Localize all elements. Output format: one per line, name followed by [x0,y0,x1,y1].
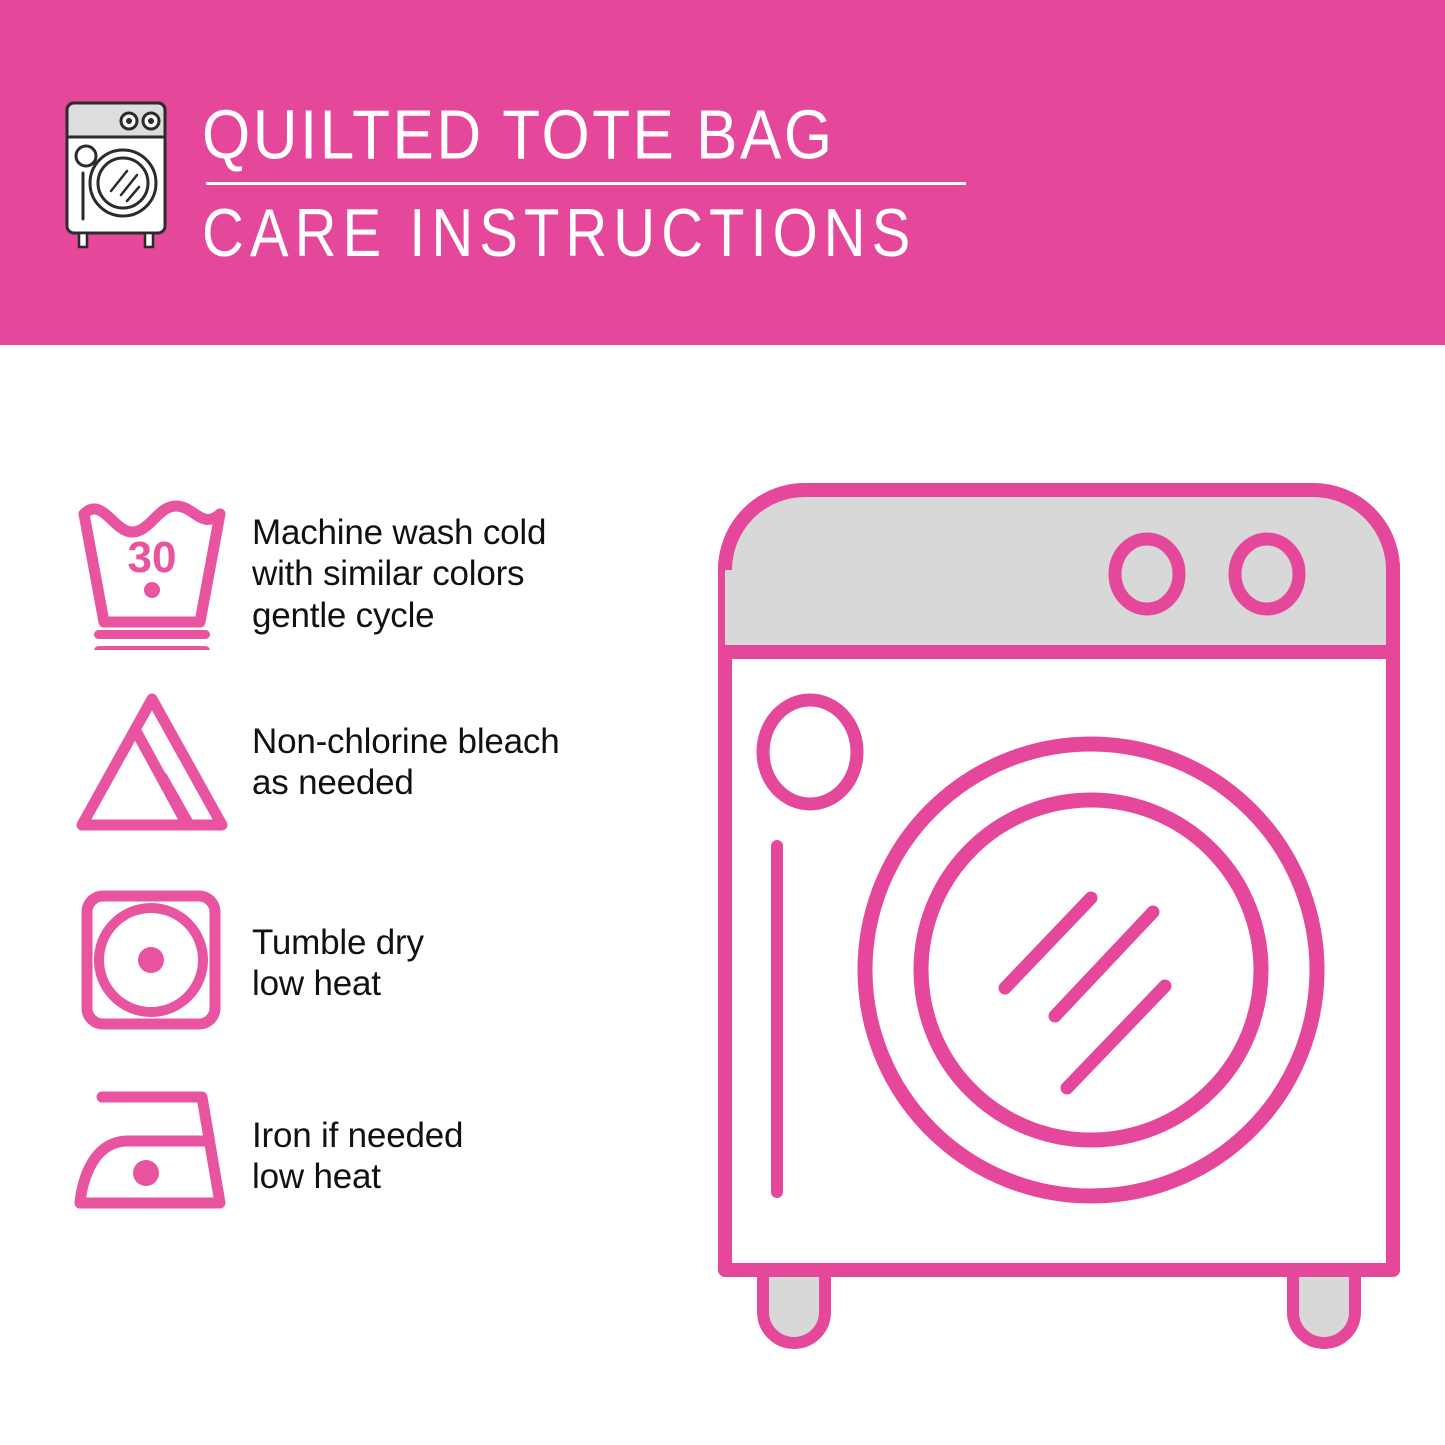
title-divider [206,182,966,185]
care-instructions-page: QUILTED TOTE BAG CARE INSTRUCTIONS 30 [0,0,1445,1445]
care-label-line: Non-chlorine bleach [252,721,702,762]
care-item-label-machine-wash: Machine wash cold with similar colors ge… [242,490,702,636]
wash-temperature-label: 30 [128,533,177,582]
machine-dial [763,700,857,804]
machine-knob-left [1115,539,1179,609]
care-label-line: Iron if needed [252,1115,702,1156]
tumble-dry-icon [62,880,242,1040]
care-label-line: with similar colors [252,553,702,594]
care-item-iron: Iron if needed low heat [62,1075,702,1270]
care-label-line: as needed [252,762,702,803]
washing-machine-illustration [715,480,1405,1360]
care-item-machine-wash: 30 Machine wash cold with similar colors… [62,490,702,685]
care-instruction-list: 30 Machine wash cold with similar colors… [62,490,702,1270]
care-label-line: Machine wash cold [252,512,702,553]
bleach-triangle-icon [62,685,242,845]
care-item-label-bleach: Non-chlorine bleach as needed [242,685,702,804]
care-item-label-tumble-dry: Tumble dry low heat [242,880,702,1005]
care-label-line: low heat [252,1156,702,1197]
washing-machine-logo-icon [55,95,180,250]
care-label-line: Tumble dry [252,922,702,963]
care-label-line: low heat [252,963,702,1004]
care-item-bleach: Non-chlorine bleach as needed [62,685,702,880]
care-item-label-iron: Iron if needed low heat [242,1075,702,1198]
header-band: QUILTED TOTE BAG CARE INSTRUCTIONS [0,0,1445,345]
care-item-tumble-dry: Tumble dry low heat [62,880,702,1075]
header-title-group: QUILTED TOTE BAG CARE INSTRUCTIONS [202,95,966,260]
wash-tub-icon: 30 [62,490,242,650]
machine-knob-right [1235,539,1299,609]
care-label-line: gentle cycle [252,595,702,636]
page-title: QUILTED TOTE BAG [202,99,966,172]
page-subtitle: CARE INSTRUCTIONS [202,199,966,270]
header-content: QUILTED TOTE BAG CARE INSTRUCTIONS [55,95,966,260]
iron-icon [62,1075,242,1235]
